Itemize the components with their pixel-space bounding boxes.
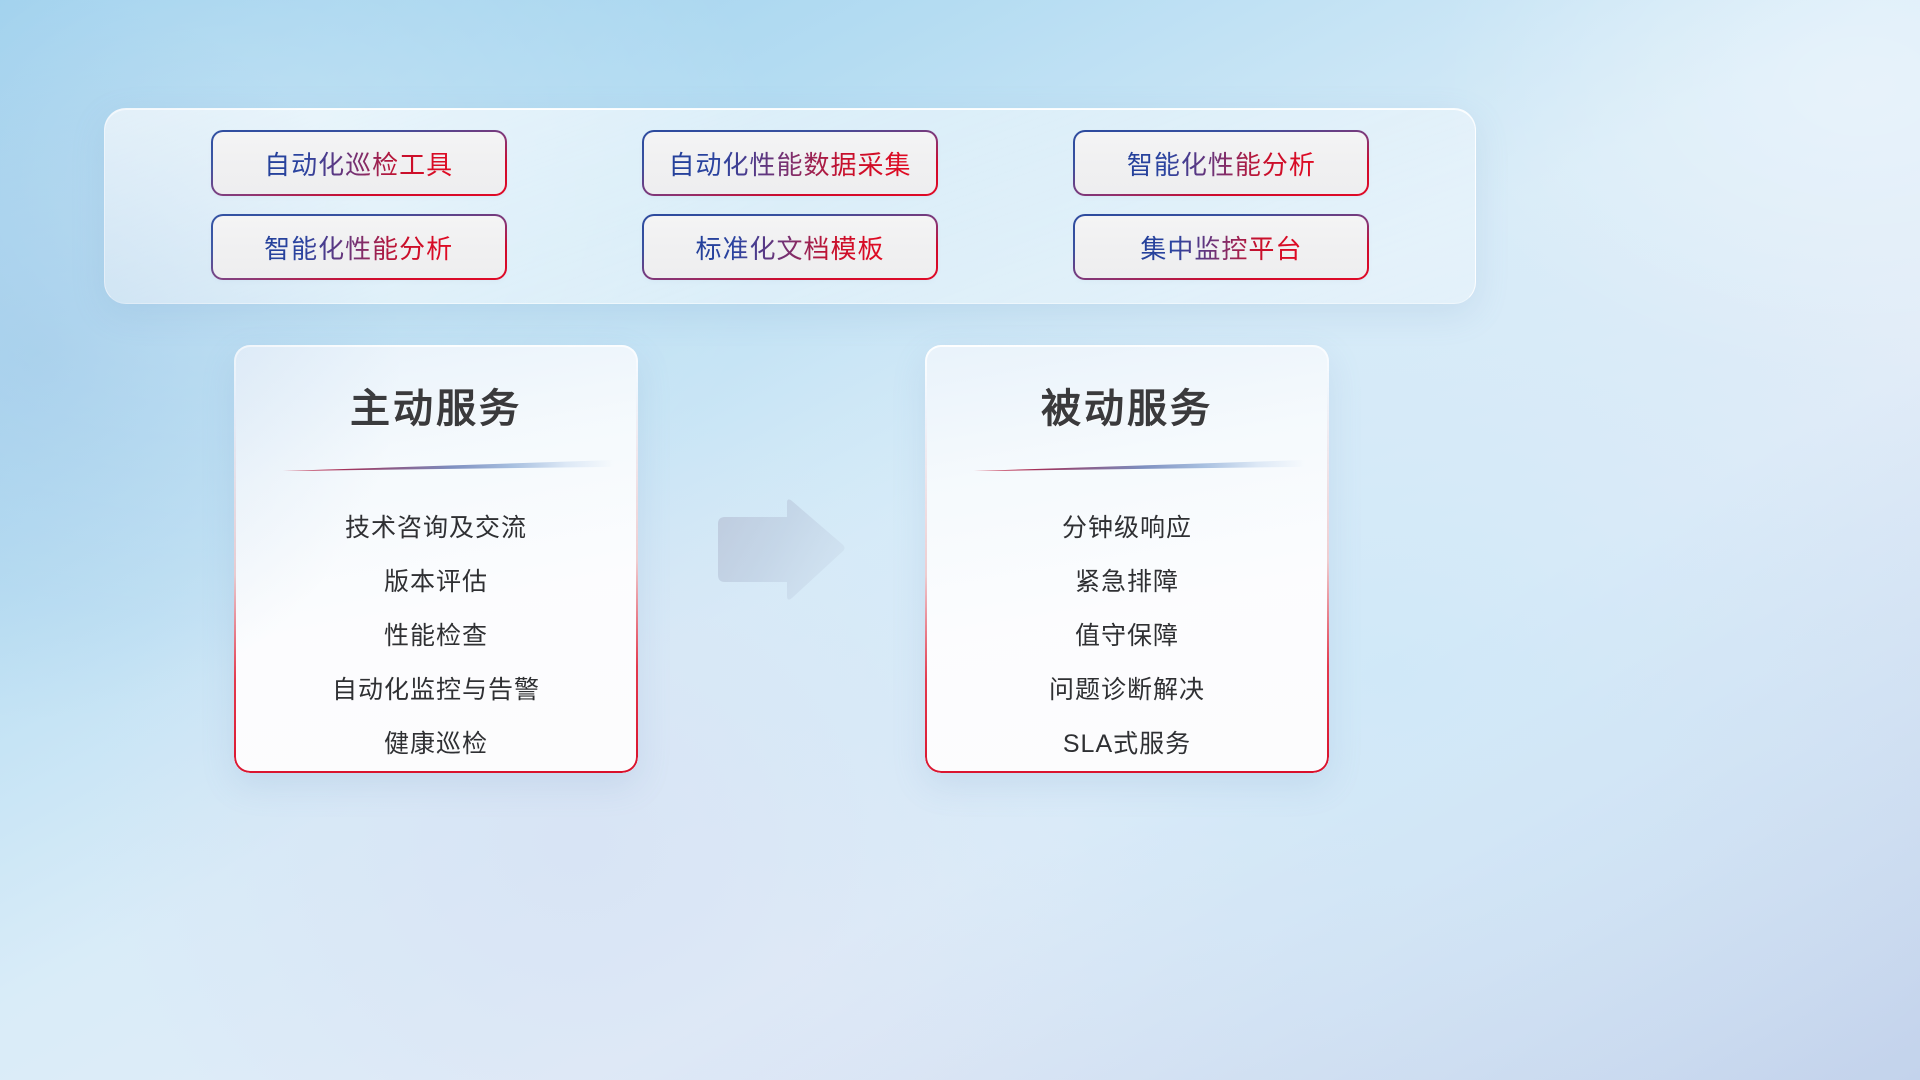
service-list-item: 版本评估 <box>384 555 488 609</box>
service-list-item: 自动化监控与告警 <box>332 663 540 717</box>
capability-tag-label: 标准化文档模板 <box>695 229 884 266</box>
card-divider-bar <box>276 460 614 471</box>
card-divider <box>949 460 1305 471</box>
capability-tag-label: 智能化性能分析 <box>264 229 453 266</box>
service-list-item: 分钟级响应 <box>1062 501 1192 555</box>
card-divider <box>258 460 614 471</box>
service-list-item: SLA式服务 <box>1063 717 1191 771</box>
service-card-title: 被动服务 <box>943 389 1311 429</box>
capability-tag[interactable]: 自动化性能数据采集 <box>644 132 936 194</box>
capability-tag-label: 自动化性能数据采集 <box>668 145 911 182</box>
flow-arrow-icon <box>714 498 848 602</box>
diagram-canvas: 自动化巡检工具 自动化性能数据采集 智能化性能分析 智能化性能分析 标准化文档模… <box>0 0 1920 1080</box>
service-list-item: 紧急排障 <box>1075 555 1179 609</box>
capability-tag-panel: 自动化巡检工具 自动化性能数据采集 智能化性能分析 智能化性能分析 标准化文档模… <box>104 108 1476 304</box>
service-list-item: 值守保障 <box>1075 609 1179 663</box>
service-card-title: 主动服务 <box>252 389 620 429</box>
capability-tag-label: 智能化性能分析 <box>1127 145 1316 182</box>
capability-tag[interactable]: 标准化文档模板 <box>644 216 936 278</box>
service-list-item: 性能检查 <box>384 609 488 663</box>
service-list-item: 问题诊断解决 <box>1049 663 1205 717</box>
service-item-list: 技术咨询及交流 版本评估 性能检查 自动化监控与告警 健康巡检 <box>252 501 620 771</box>
capability-tag-label: 自动化巡检工具 <box>264 145 453 182</box>
service-list-item: 健康巡检 <box>384 717 488 771</box>
service-list-item: 技术咨询及交流 <box>345 501 527 555</box>
service-card-active: 主动服务 技术咨询及交流 版本评估 性能检查 自动化监控与告警 健康巡检 <box>234 345 638 773</box>
service-card-passive: 被动服务 分钟级响应 紧急排障 值守保障 问题诊断解决 SLA式服务 <box>925 345 1329 773</box>
capability-tag[interactable]: 智能化性能分析 <box>213 216 505 278</box>
service-item-list: 分钟级响应 紧急排障 值守保障 问题诊断解决 SLA式服务 <box>943 501 1311 771</box>
card-divider-bar <box>967 460 1305 471</box>
capability-tag[interactable]: 集中监控平台 <box>1075 216 1367 278</box>
capability-tag[interactable]: 智能化性能分析 <box>1075 132 1367 194</box>
capability-tag-label: 集中监控平台 <box>1140 229 1302 266</box>
capability-tag[interactable]: 自动化巡检工具 <box>213 132 505 194</box>
